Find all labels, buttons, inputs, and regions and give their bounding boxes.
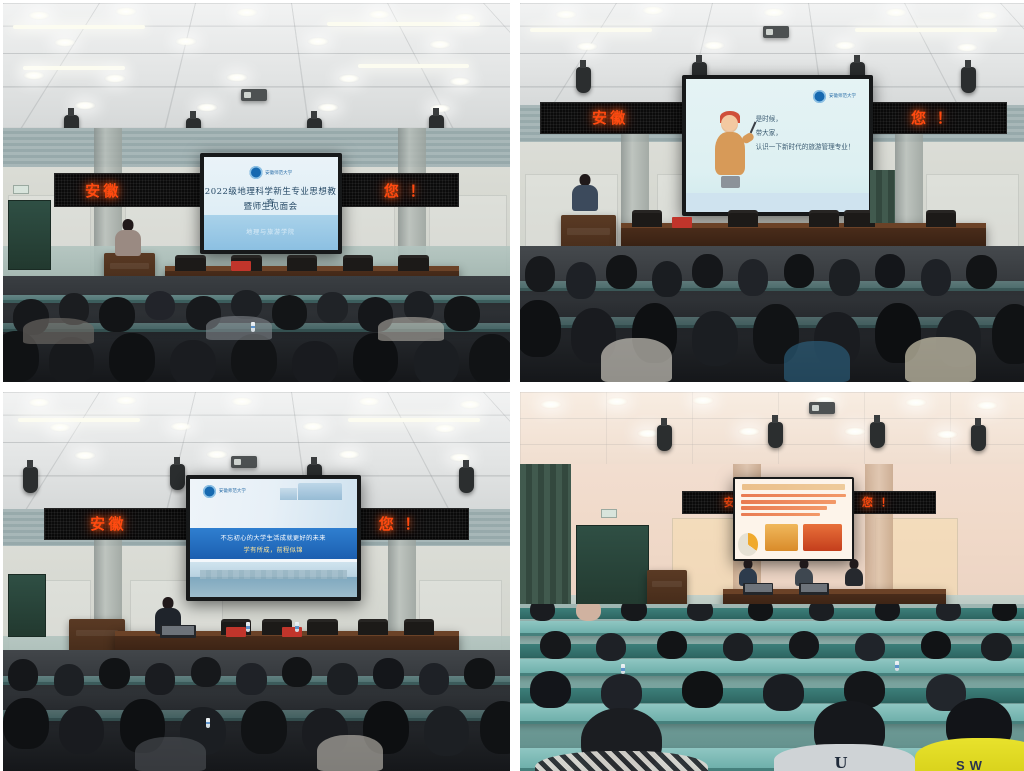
- audience-shoulders: [23, 318, 94, 343]
- projection-screen: 安徽师范大学 是时候， 带: [686, 79, 869, 212]
- ceiling-downlight: [226, 73, 248, 82]
- audience-head: [692, 254, 722, 288]
- led-banner-left-text: 安徽: [85, 180, 122, 201]
- audience-head: [282, 657, 312, 687]
- audience-head: [8, 659, 38, 691]
- led-banner-left-text: 安徽: [90, 513, 127, 534]
- slide-line-3: 认识一下新时代的旅游管理专业！: [756, 141, 855, 155]
- projection-screen-frame: [733, 477, 854, 561]
- audience-head: [621, 604, 646, 621]
- audience-head: [170, 340, 216, 382]
- slide-line-1: 是时候，: [756, 113, 855, 127]
- slide-title-bar: 不忘初心的大学生活成就更好的未来 学有所成，前程似锦: [190, 528, 357, 560]
- ceiling-downlight: [956, 43, 978, 52]
- ceiling: [520, 392, 1024, 475]
- hoodie-logo-text: U: [834, 754, 847, 771]
- projection-screen-frame: 安徽师范大学 不忘初心的大学生活成就更好的未来 学有所成，前程似锦: [186, 475, 361, 600]
- audience-head: [738, 259, 768, 296]
- audience-head: [981, 633, 1011, 661]
- ceiling-downlight: [703, 41, 725, 50]
- stage-chair: [175, 255, 205, 270]
- audience-head: [652, 261, 682, 298]
- strip-light: [855, 28, 997, 32]
- water-bottle: [251, 322, 255, 332]
- audience-head: [236, 663, 266, 695]
- audience-head: [424, 706, 470, 757]
- audience-head: [231, 290, 261, 320]
- document-image-right: [803, 524, 843, 551]
- stage-chair: [398, 255, 428, 270]
- stage-chair: [307, 619, 337, 634]
- ceiling-downlight: [905, 398, 927, 407]
- university-logo: 安徽师范大学: [813, 90, 856, 103]
- audience-head: [54, 664, 84, 696]
- ceiling-downlight: [637, 429, 659, 438]
- side-door: [8, 574, 45, 637]
- ceiling-downlight: [368, 10, 390, 19]
- name-plate: [231, 261, 251, 271]
- audience-head: [855, 633, 885, 661]
- exit-sign: [601, 509, 617, 518]
- audience-head: [657, 631, 687, 659]
- ceiling-downlight: [459, 400, 481, 409]
- audience-head: [921, 631, 951, 659]
- desk-row: [520, 659, 1024, 675]
- audience-head: [109, 333, 155, 382]
- stage-spotlight: [657, 425, 672, 451]
- lecture-hall-scene: 安徽 您 ！: [520, 392, 1024, 771]
- audience-head: [992, 304, 1024, 364]
- audience-head: [414, 338, 460, 382]
- strip-light: [530, 28, 652, 32]
- audience-head: [373, 658, 403, 688]
- name-plate: [672, 217, 692, 228]
- university-badge-icon: [203, 485, 216, 498]
- university-logo-text: 安徽师范大学: [265, 170, 292, 176]
- audience-head: [241, 701, 287, 754]
- led-banner-left-text: 安徽: [592, 107, 629, 128]
- stage-chair: [404, 619, 434, 634]
- ceiling-downlight: [449, 77, 471, 86]
- ceiling-downlight: [115, 7, 137, 16]
- audience-head: [272, 295, 307, 330]
- audience-head: [99, 297, 134, 332]
- slide-illustration: 安徽师范大学 是时候， 带: [686, 79, 869, 212]
- audience-head: [231, 334, 277, 382]
- projection-screen-frame: 安徽师范大学 2022级地理科学新生专业思想教育 暨师生见面会 地理与旅游学院: [200, 153, 342, 254]
- ceiling-downlight: [196, 103, 218, 112]
- audience-head: [464, 658, 494, 688]
- laptop: [743, 583, 773, 594]
- slide-title: 安徽师范大学 2022级地理科学新生专业思想教育 暨师生见面会 地理与旅游学院: [204, 157, 338, 250]
- audience-head: [444, 296, 479, 331]
- audience-head: [784, 254, 814, 288]
- audience-head: [520, 300, 561, 357]
- projector: [809, 402, 835, 414]
- seated-teacher-left: [738, 559, 758, 585]
- stage-chair: [926, 210, 956, 227]
- stage-spotlight: [459, 467, 474, 493]
- ceiling-downlight: [429, 40, 451, 49]
- exit-sign: [13, 185, 29, 194]
- strip-light: [13, 25, 145, 29]
- stage-spotlight: [961, 67, 976, 93]
- audience-head: [469, 334, 510, 382]
- slide-document: [735, 479, 852, 559]
- document-text-row: [741, 513, 820, 517]
- projection-screen: [735, 479, 852, 559]
- audience-head: [875, 604, 900, 621]
- audience-head: [59, 706, 105, 755]
- audience-head: [525, 256, 555, 291]
- audience-area: [3, 276, 510, 382]
- slide-base-band: [686, 193, 869, 212]
- stage-spotlight: [971, 425, 986, 451]
- photo-panel-bottom-right: 安徽 您 ！: [520, 392, 1024, 771]
- projector: [763, 26, 789, 38]
- presenter: [115, 219, 141, 253]
- ceiling-downlight: [338, 450, 360, 459]
- ceiling-downlight: [555, 10, 577, 19]
- slide-line-2: 带大家，: [756, 127, 855, 141]
- slide-footer-text: 地理与旅游学院: [204, 227, 338, 236]
- strip-light: [18, 418, 140, 422]
- presenter-body: [845, 568, 863, 586]
- stage-chair: [728, 210, 758, 227]
- ceiling-downlight: [302, 422, 324, 431]
- audience-shoulders: [378, 317, 444, 340]
- cartoon-head: [721, 115, 738, 133]
- audience-head: [606, 255, 636, 289]
- photo-panel-bottom-left: 安徽 您 ！ 安徽师范大学 不忘初心的大学生活成就更: [3, 392, 510, 771]
- led-banner-right-text: 您 ！: [862, 494, 894, 510]
- desk-row: [520, 621, 1024, 636]
- document-image-left: [765, 524, 798, 551]
- presenter-body: [572, 185, 598, 211]
- document-text-row: [741, 494, 846, 498]
- ceiling-downlight: [317, 103, 339, 112]
- audience-head: [191, 657, 221, 687]
- audience-shoulders: [784, 341, 850, 382]
- audience-head: [966, 255, 996, 289]
- ceiling-downlight: [763, 8, 785, 17]
- led-banner-right-text: 您 ！: [379, 513, 423, 534]
- slide-header-area: 安徽师范大学: [190, 479, 357, 528]
- slide-text-block: 是时候， 带大家， 认识一下新时代的旅游管理专业！: [756, 113, 855, 155]
- audience-head: [530, 671, 571, 708]
- audience-shoulders: [317, 735, 383, 771]
- audience-area: [3, 650, 510, 771]
- audience-head: [3, 698, 49, 749]
- projector: [241, 89, 267, 101]
- seated-teacher-right: [844, 559, 864, 585]
- audience-head: [829, 259, 859, 296]
- audience-head: [49, 337, 95, 382]
- audience-head: [99, 658, 129, 688]
- ceiling-downlight: [885, 8, 907, 17]
- strip-light: [23, 66, 124, 70]
- document-text-row: [741, 506, 827, 510]
- ceiling-downlight: [454, 13, 476, 22]
- ceiling-downlight: [206, 450, 228, 459]
- document-text-row: [741, 500, 837, 504]
- audience-shoulders: [601, 338, 672, 382]
- audience-head: [692, 311, 738, 366]
- slide-footer-band: 地理与旅游学院: [204, 215, 338, 249]
- cartoon-legs: [721, 176, 740, 188]
- ceiling-downlight: [115, 396, 137, 405]
- audience-shoulders: [135, 737, 206, 771]
- audience-head: [145, 291, 175, 321]
- audience-head: [576, 604, 601, 621]
- document-header-bar: [742, 484, 845, 490]
- campus-building-graphic: [298, 483, 341, 500]
- stage-spotlight: [170, 464, 185, 490]
- ceiling-downlight: [576, 42, 598, 51]
- audience-head: [327, 663, 357, 695]
- ceiling-downlight: [976, 11, 998, 20]
- presenter: [571, 174, 599, 210]
- stage-spotlight: [768, 422, 783, 448]
- strip-light: [348, 418, 480, 422]
- slide-campus-title: 安徽师范大学 不忘初心的大学生活成就更好的未来 学有所成，前程似锦: [190, 479, 357, 596]
- projection-screen-frame: 安徽师范大学 是时候， 带: [682, 75, 873, 216]
- stage-chair: [343, 255, 373, 270]
- audience-head: [992, 604, 1017, 621]
- side-curtain: [870, 170, 895, 223]
- stage-spotlight: [870, 422, 885, 448]
- audience-shoulders: [206, 316, 272, 339]
- laptop: [160, 625, 195, 638]
- water-bottle: [246, 622, 250, 632]
- ceiling-downlight: [936, 430, 958, 439]
- lecture-hall-scene: 安徽 您 ！ 安徽师范大学: [520, 3, 1024, 382]
- photo-panel-top-left: 安徽 您 ！ 安徽师范大学 2022级地理科学新生专业思想教育 暨师生见面会 地…: [3, 3, 510, 382]
- side-curtain: [520, 464, 571, 623]
- university-badge-icon: [249, 166, 262, 179]
- audience-head: [723, 633, 753, 661]
- slide-line-2: 暨师生见面会: [204, 200, 338, 212]
- audience-head: [809, 604, 834, 621]
- slide-line-2: 学有所成，前程似锦: [244, 545, 303, 554]
- stage-chair: [287, 255, 317, 270]
- name-plate: [282, 627, 302, 637]
- stage-chair: [358, 619, 388, 634]
- led-banner-right-text: 您 ！: [911, 107, 955, 128]
- audience-head: [789, 631, 819, 659]
- ceiling: [3, 3, 510, 139]
- name-plate: [226, 627, 246, 637]
- university-logo-text: 安徽师范大学: [219, 488, 246, 494]
- water-bottle: [621, 664, 625, 674]
- audience-head: [682, 671, 723, 708]
- photo-panel-top-right: 安徽 您 ！ 安徽师范大学: [520, 3, 1024, 382]
- university-logo: 安徽师范大学: [203, 485, 246, 498]
- campus-photo-band: [190, 562, 357, 597]
- audience-head: [292, 341, 338, 382]
- document-pie-chart: [738, 533, 758, 555]
- cartoon-teacher-icon: [712, 113, 749, 187]
- university-logo-text: 安徽师范大学: [829, 93, 856, 99]
- university-badge-icon: [813, 90, 826, 103]
- audience-head: [419, 663, 449, 695]
- side-door: [8, 200, 51, 270]
- projection-screen: 安徽师范大学 2022级地理科学新生专业思想教育 暨师生见面会 地理与旅游学院: [204, 157, 338, 250]
- side-door: [576, 525, 649, 610]
- audience-head: [921, 259, 951, 296]
- ceiling-downlight: [49, 423, 71, 432]
- audience-head: [145, 663, 175, 695]
- projector: [231, 456, 257, 468]
- audience-head: [936, 604, 961, 621]
- audience-head: [566, 262, 596, 299]
- ceiling-downlight: [606, 397, 628, 406]
- lecture-hall-scene: 安徽 您 ！ 安徽师范大学 2022级地理科学新生专业思想教育 暨师生见面会 地…: [3, 3, 510, 382]
- ceiling-downlight: [738, 427, 760, 436]
- cartoon-body: [715, 132, 746, 175]
- water-bottle: [295, 622, 299, 632]
- audience-shoulders: [905, 337, 976, 382]
- stage-spotlight: [576, 67, 591, 93]
- lecture-hall-scene: 安徽 您 ！ 安徽师范大学 不忘初心的大学生活成就更: [3, 392, 510, 771]
- projection-screen: 安徽师范大学 不忘初心的大学生活成就更好的未来 学有所成，前程似锦: [190, 479, 357, 596]
- audience-head: [596, 633, 626, 661]
- seated-teacher-center: [794, 559, 814, 585]
- audience-head: [763, 674, 804, 711]
- audience-head: [540, 631, 570, 659]
- jacket-text: SW: [956, 758, 987, 771]
- university-logo: 安徽师范大学: [249, 166, 292, 179]
- led-banner-right-text: 您 ！: [384, 180, 428, 201]
- stage-spotlight: [23, 467, 38, 493]
- water-bottle: [895, 661, 899, 671]
- strip-light: [327, 22, 479, 26]
- audience-head: [601, 674, 642, 711]
- strip-light: [358, 64, 470, 68]
- audience-head: [687, 604, 712, 621]
- audience-head: [875, 254, 905, 288]
- water-bottle: [206, 718, 210, 728]
- stage-chair: [809, 210, 839, 227]
- slide-line-1: 不忘初心的大学生活成就更好的未来: [220, 533, 325, 542]
- ceiling-downlight: [338, 74, 360, 83]
- ceiling-downlight: [834, 41, 856, 50]
- audience-head: [317, 292, 347, 323]
- stage-chair: [632, 210, 662, 227]
- photo-collage: 安徽 您 ！ 安徽师范大学 2022级地理科学新生专业思想教育 暨师生见面会 地…: [0, 0, 1024, 768]
- audience-area: U SW: [520, 604, 1024, 771]
- laptop: [799, 583, 829, 594]
- ceiling-downlight: [170, 422, 192, 431]
- presenter-body: [115, 230, 141, 256]
- audience-area: [520, 246, 1024, 382]
